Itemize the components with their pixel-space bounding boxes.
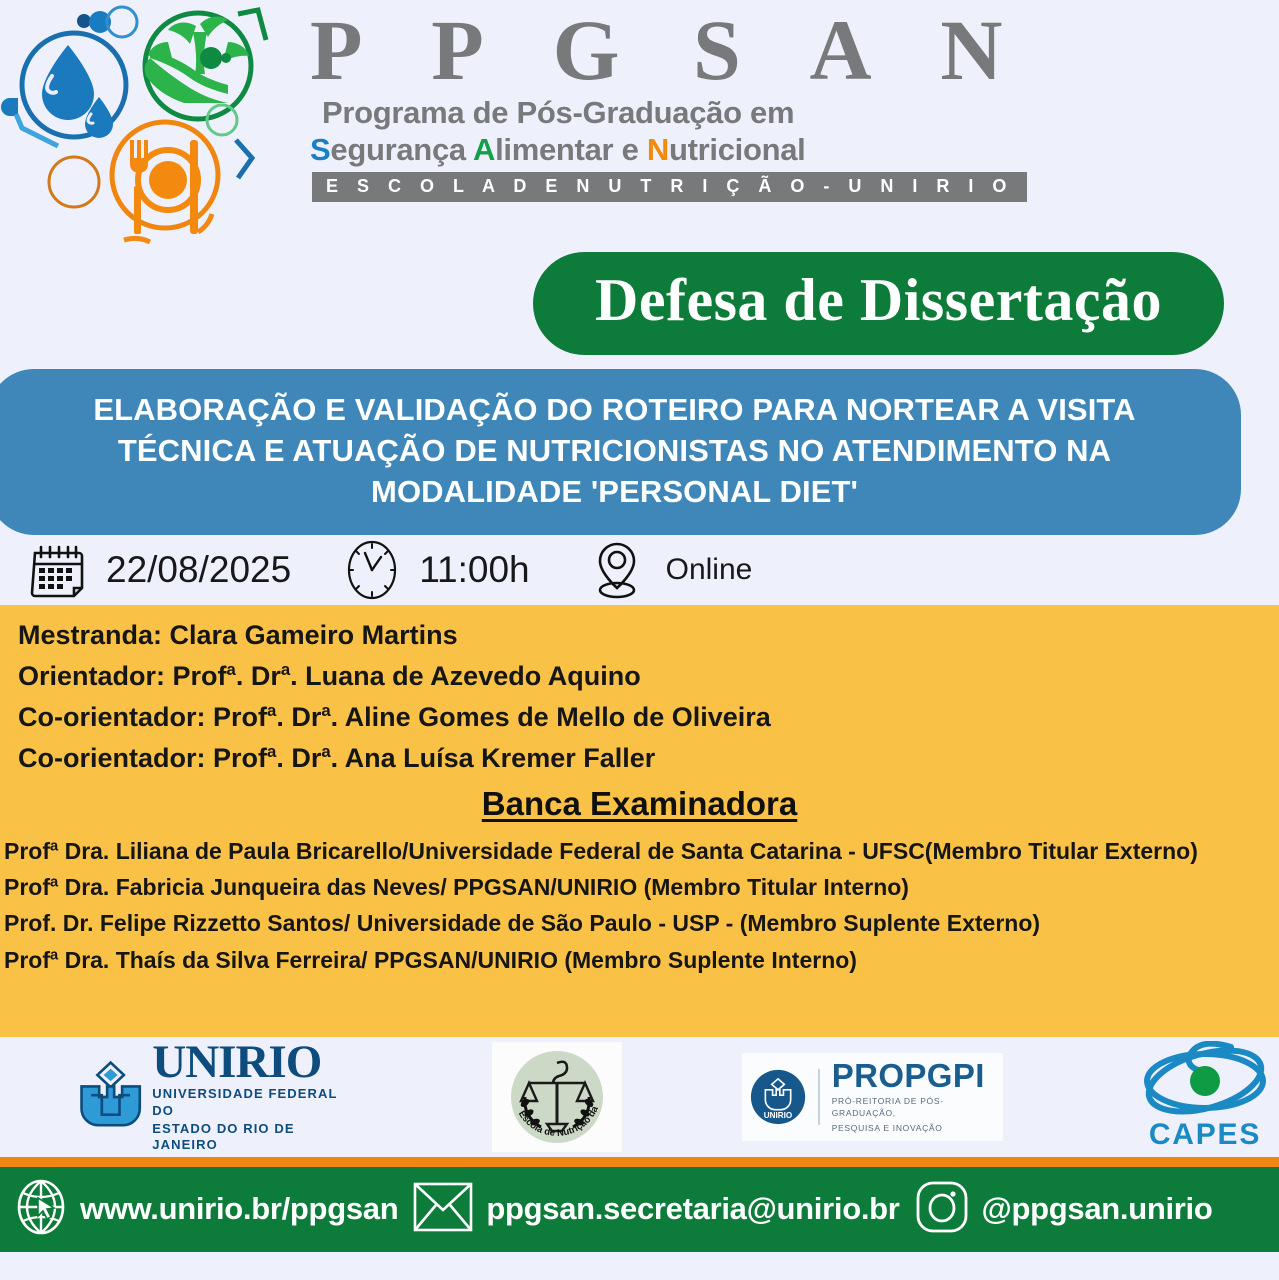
globe-icon: [14, 1178, 68, 1241]
orange-divider: [0, 1157, 1279, 1167]
instagram-icon: [914, 1178, 970, 1241]
plate-cutlery-icon: [130, 140, 198, 234]
propgpi-tagline-1: PRÓ-REITORIA DE PÓS-GRADUAÇÃO,: [832, 1095, 991, 1120]
capes-name: CAPES: [1131, 1118, 1279, 1152]
thesis-title-pill: ELABORAÇÃO E VALIDAÇÃO DO ROTEIRO PARA N…: [0, 369, 1241, 535]
unirio-shield-icon: [78, 1055, 143, 1139]
header: P P G S A N Programa de Pós-Graduação em…: [0, 0, 1279, 248]
event-date-text: 22/08/2025: [106, 549, 291, 591]
unirio-wordmark: UNIRIO UNIVERSIDADE FEDERAL DO ESTADO DO…: [152, 1040, 340, 1154]
banca-member: Prof. Dr. Felipe Rizzetto Santos/ Univer…: [0, 905, 1279, 941]
website-item[interactable]: www.unirio.br/ppgsan: [14, 1178, 398, 1241]
logo-graphic-svg: [0, 0, 300, 248]
advisor-line: Orientador: Profa. Dra. Luana de Azevedo…: [0, 656, 1279, 697]
thesis-title-line-3: MODALIDADE 'PERSONAL DIET': [26, 471, 1203, 512]
svg-text:UNIRIO: UNIRIO: [764, 1110, 792, 1119]
clock-icon: [343, 539, 401, 601]
decor-ring-green: [207, 105, 237, 135]
event-location-item: Online: [590, 539, 753, 601]
banca-member: Profa Dra. Liliana de Paula Bricarello/U…: [0, 833, 1279, 869]
banca-heading: Banca Examinadora: [0, 785, 1279, 823]
decor-dot-green: [200, 47, 222, 69]
thesis-title-line-1: ELABORAÇÃO E VALIDAÇÃO DO ROTEIRO PARA N…: [26, 389, 1203, 430]
decor-ring-blue: [107, 7, 137, 37]
propgpi-card: UNIRIO PROPGPI PRÓ-REITORIA DE PÓS-GRADU…: [742, 1053, 1003, 1141]
unirio-tagline-2: ESTADO DO RIO DE JANEIRO: [152, 1121, 340, 1154]
ppgsan-subtitle-line2: Segurança Alimentar e Nutricional: [300, 132, 1279, 168]
coadvisor-line-1: Co-orientador: Profa. Dra. Aline Gomes d…: [0, 697, 1279, 738]
ppgsan-logo-marks: [0, 0, 300, 248]
sponsor-logos-row: UNIRIO UNIVERSIDADE FEDERAL DO ESTADO DO…: [0, 1037, 1279, 1157]
event-location-text: Online: [666, 553, 753, 587]
banca-member: Profa Dra. Thaís da Silva Ferreira/ PPGS…: [0, 942, 1279, 978]
capes-orbit-icon: [1131, 1041, 1279, 1117]
unirio-name: UNIRIO: [152, 1040, 340, 1085]
capes-block: CAPES: [1131, 1041, 1279, 1152]
propgpi-tagline-2: PESQUISA E INOVAÇÃO: [832, 1122, 991, 1134]
website-text[interactable]: www.unirio.br/ppgsan: [80, 1191, 398, 1227]
envelope-icon: [412, 1180, 474, 1239]
decor-dot-green-small: [221, 53, 231, 63]
thesis-title-line-2: TÉCNICA E ATUAÇÃO DE NUTRICIONISTAS NO A…: [26, 430, 1203, 471]
ppgsan-school-band: E S C O L A D E N U T R I Ç Ã O - U N I …: [312, 172, 1027, 202]
escola-nutricao-seal-icon: Escola de Nutrição da Unirio: [495, 1045, 619, 1149]
capes-logo: CAPES: [1131, 1041, 1279, 1152]
event-type-label: Defesa de Dissertação: [595, 267, 1162, 333]
unirio-tagline-1: UNIVERSIDADE FEDERAL DO: [152, 1086, 340, 1119]
instagram-item[interactable]: @ppgsan.unirio: [914, 1178, 1213, 1241]
instagram-text[interactable]: @ppgsan.unirio: [982, 1191, 1213, 1227]
unirio-logo: UNIRIO UNIVERSIDADE FEDERAL DO ESTADO DO…: [78, 1040, 340, 1154]
contact-bar: www.unirio.br/ppgsan ppgsan.secretaria@u…: [0, 1167, 1279, 1252]
coadvisor-line-2: Co-orientador: Profa. Dra. Ana Luísa Kre…: [0, 738, 1279, 779]
decor-ring-orange: [49, 157, 99, 207]
propgpi-wordmark: PROPGPI PRÓ-REITORIA DE PÓS-GRADUAÇÃO, P…: [832, 1059, 991, 1135]
event-type-pill: Defesa de Dissertação: [533, 252, 1224, 355]
event-info-row: 22/08/2025 11:00h Online: [0, 535, 1279, 605]
unirio-circle-icon: UNIRIO: [750, 1066, 806, 1128]
banca-member: Profa Dra. Fabricia Junqueira das Neves/…: [0, 869, 1279, 905]
student-line: Mestranda: Clara Gameiro Martins: [0, 615, 1279, 656]
ppgsan-logo-text: P P G S A N Programa de Pós-Graduação em…: [300, 0, 1279, 202]
ppgsan-subtitle-line1: Programa de Pós-Graduação em: [300, 95, 1279, 131]
ppgsan-acronym: P P G S A N: [300, 8, 1279, 92]
decor-arc-orange-2: [124, 238, 150, 242]
propgpi-logo: UNIRIO PROPGPI PRÓ-REITORIA DE PÓS-GRADU…: [742, 1053, 1003, 1141]
event-time-item: 11:00h: [343, 539, 529, 601]
event-time-text: 11:00h: [419, 549, 529, 591]
decor-halfdot-blue: [1, 98, 18, 116]
decor-dot-navy: [77, 14, 91, 28]
map-pin-icon: [590, 539, 644, 601]
email-text[interactable]: ppgsan.secretaria@unirio.br: [486, 1191, 899, 1227]
calendar-icon: [26, 539, 88, 601]
event-date-item: 22/08/2025: [26, 539, 291, 601]
decor-chevron-blue: [236, 140, 252, 178]
event-type-row: Defesa de Dissertação: [0, 252, 1279, 355]
propgpi-divider: [818, 1069, 820, 1125]
escola-nutricao-logo: Escola de Nutrição da Unirio: [492, 1042, 622, 1152]
email-item[interactable]: ppgsan.secretaria@unirio.br: [412, 1180, 899, 1239]
people-section: Mestranda: Clara Gameiro Martins Orienta…: [0, 605, 1279, 1037]
propgpi-name: PROPGPI: [832, 1059, 991, 1092]
